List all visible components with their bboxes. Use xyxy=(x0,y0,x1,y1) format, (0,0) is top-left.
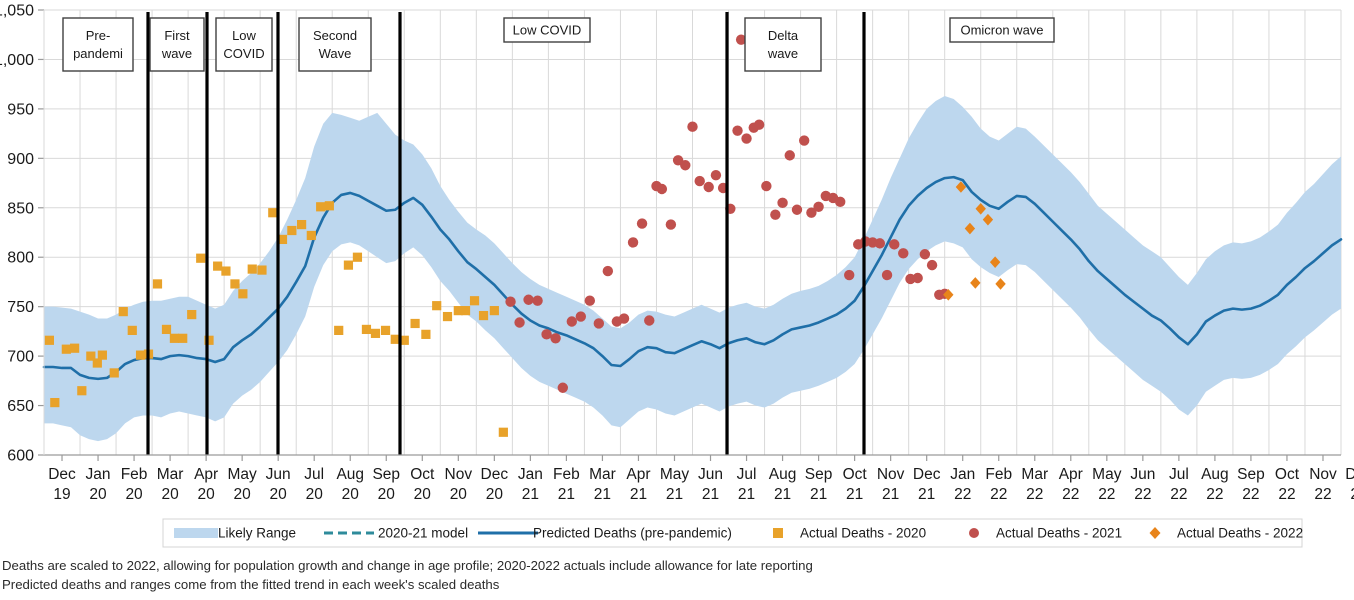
x-axis-tick-month: Mar xyxy=(1021,466,1048,483)
marker-square-2020 xyxy=(297,220,306,229)
x-axis-tick-month: Jun xyxy=(1130,466,1155,483)
legend-item-label: Actual Deaths - 2021 xyxy=(996,526,1122,541)
x-axis-tick-month: Sep xyxy=(805,466,833,483)
annotation-label-line2: wave xyxy=(767,46,798,61)
marker-circle-2021 xyxy=(920,249,930,259)
footnotes: Deaths are scaled to 2022, allowing for … xyxy=(2,558,813,592)
x-axis-tick-year: 21 xyxy=(666,486,683,503)
x-axis-tick-month: Jul xyxy=(1169,466,1189,483)
x-axis-tick-month: Dec xyxy=(481,466,509,483)
annotation-label-line2: COVID xyxy=(223,46,264,61)
marker-circle-2021 xyxy=(732,125,742,135)
x-axis-tick-year: 21 xyxy=(846,486,863,503)
annotation-box[interactable]: LowCOVID xyxy=(216,18,272,71)
annotation-box-rect[interactable] xyxy=(63,18,133,71)
marker-square-2020 xyxy=(287,226,296,235)
marker-circle-2021 xyxy=(835,197,845,207)
marker-square-2020 xyxy=(470,296,479,305)
marker-square-2020 xyxy=(62,345,71,354)
x-axis-tick-year: 21 xyxy=(522,486,539,503)
x-axis-tick-year: 21 xyxy=(882,486,899,503)
x-axis-tick-month: Jul xyxy=(304,466,324,483)
legend-swatch-band xyxy=(174,528,218,538)
marker-square-2020 xyxy=(70,344,79,353)
x-axis-tick-month: Apr xyxy=(1059,466,1083,483)
chart-page: Pre-pandemiFirstwaveLowCOVIDSecondWaveLo… xyxy=(0,0,1354,600)
annotation-box-rect[interactable] xyxy=(745,18,821,71)
marker-circle-2021 xyxy=(666,219,676,229)
x-axis-tick-month: Nov xyxy=(1309,466,1337,483)
marker-square-2020 xyxy=(178,334,187,343)
x-axis-tick-year: 21 xyxy=(702,486,719,503)
marker-circle-2021 xyxy=(695,176,705,186)
legend-swatch-square xyxy=(773,528,783,538)
y-axis-tick-label: 800 xyxy=(7,250,34,267)
x-axis-tick-year: 22 xyxy=(990,486,1007,503)
marker-circle-2021 xyxy=(754,120,764,130)
x-axis-tick-year: 22 xyxy=(1278,486,1295,503)
marker-circle-2021 xyxy=(777,198,787,208)
annotation-label-line2: wave xyxy=(161,46,192,61)
marker-square-2020 xyxy=(461,306,470,315)
annotation-label: Low COVID xyxy=(513,23,582,38)
marker-circle-2021 xyxy=(927,260,937,270)
legend-box xyxy=(163,519,1302,547)
annotation-label-line1: Low xyxy=(232,28,256,43)
x-axis-tick-year: 22 xyxy=(1098,486,1115,503)
x-axis-tick-year: 20 xyxy=(161,486,179,503)
x-axis-tick-year: 21 xyxy=(594,486,611,503)
marker-square-2020 xyxy=(230,279,239,288)
marker-circle-2021 xyxy=(770,210,780,220)
x-axis-tick-month: Aug xyxy=(336,466,364,483)
marker-square-2020 xyxy=(371,329,380,338)
x-axis-tick-month: Feb xyxy=(121,466,148,483)
annotation-box[interactable]: SecondWave xyxy=(299,18,371,71)
marker-square-2020 xyxy=(344,261,353,270)
x-axis-tick-year: 20 xyxy=(342,486,360,503)
marker-circle-2021 xyxy=(882,270,892,280)
legend-item-label: Actual Deaths - 2020 xyxy=(800,526,926,541)
x-axis-tick-month: Nov xyxy=(445,466,473,483)
marker-square-2020 xyxy=(213,262,222,271)
annotation-label-line2: pandemi xyxy=(73,46,123,61)
marker-circle-2021 xyxy=(541,329,551,339)
annotation-label-line2: Wave xyxy=(319,46,352,61)
marker-circle-2021 xyxy=(619,313,629,323)
annotation-box[interactable]: Omicron wave xyxy=(950,18,1054,42)
marker-square-2020 xyxy=(410,319,419,328)
marker-circle-2021 xyxy=(576,311,586,321)
marker-square-2020 xyxy=(196,254,205,263)
marker-circle-2021 xyxy=(792,205,802,215)
x-axis-tick-year: 22 xyxy=(1170,486,1187,503)
marker-square-2020 xyxy=(221,266,230,275)
marker-square-2020 xyxy=(499,428,508,437)
legend-item-label: 2020-21 model xyxy=(378,526,468,541)
x-axis-tick-year: 19 xyxy=(53,486,70,503)
marker-circle-2021 xyxy=(680,160,690,170)
marker-circle-2021 xyxy=(889,239,899,249)
annotation-box-rect[interactable] xyxy=(150,18,204,71)
footnote-line-1: Deaths are scaled to 2022, allowing for … xyxy=(2,558,813,573)
x-axis-tick-month: Dec xyxy=(913,466,941,483)
annotation-box-rect[interactable] xyxy=(299,18,371,71)
x-axis-tick-month: Jan xyxy=(950,466,975,483)
x-axis-tick-year: 22 xyxy=(954,486,971,503)
marker-diamond-2022 xyxy=(970,277,980,289)
x-axis-tick-year: 21 xyxy=(630,486,647,503)
marker-circle-2021 xyxy=(898,248,908,258)
x-axis-tick-year: 20 xyxy=(89,486,107,503)
marker-square-2020 xyxy=(334,326,343,335)
marker-circle-2021 xyxy=(505,297,515,307)
marker-circle-2021 xyxy=(558,383,568,393)
marker-square-2020 xyxy=(248,264,257,273)
x-axis-tick-month: Nov xyxy=(877,466,905,483)
legend: Likely Range2020-21 modelPredicted Death… xyxy=(163,519,1303,547)
x-axis-tick-year: 22 xyxy=(1026,486,1043,503)
x-axis-tick-month: Jan xyxy=(518,466,543,483)
x-axis-tick-year: 22 xyxy=(1242,486,1259,503)
x-axis-tick-year: 20 xyxy=(125,486,143,503)
x-axis-tick-year: 21 xyxy=(738,486,755,503)
marker-square-2020 xyxy=(93,358,102,367)
y-axis-tick-label: 750 xyxy=(7,299,34,316)
marker-square-2020 xyxy=(45,336,54,345)
x-axis-tick-month: May xyxy=(228,466,258,483)
x-axis-tick-year: 20 xyxy=(198,486,216,503)
legend-item-label: Likely Range xyxy=(218,526,296,541)
marker-diamond-2022 xyxy=(995,278,1005,290)
y-axis-tick-label: 850 xyxy=(7,200,34,217)
marker-circle-2021 xyxy=(567,316,577,326)
annotation-label-line1: First xyxy=(164,28,190,43)
x-axis-tick-year: 22 xyxy=(1350,486,1354,503)
x-axis-tick-year: 20 xyxy=(270,486,288,503)
annotation-label-line1: Second xyxy=(313,28,357,43)
x-axis-tick-year: 22 xyxy=(1206,486,1223,503)
x-axis-tick-month: Mar xyxy=(589,466,616,483)
x-axis-tick-month: Jan xyxy=(86,466,111,483)
x-axis-tick-year: 20 xyxy=(378,486,396,503)
marker-square-2020 xyxy=(432,301,441,310)
x-axis-tick-year: 21 xyxy=(558,486,575,503)
marker-circle-2021 xyxy=(628,237,638,247)
marker-circle-2021 xyxy=(532,296,542,306)
annotation-box[interactable]: Firstwave xyxy=(150,18,204,71)
period-annotations: Pre-pandemiFirstwaveLowCOVIDSecondWaveLo… xyxy=(63,18,1054,71)
x-axis-tick-year: 22 xyxy=(1134,486,1151,503)
marker-square-2020 xyxy=(362,325,371,334)
x-axis-tick-month: May xyxy=(660,466,690,483)
marker-circle-2021 xyxy=(761,181,771,191)
marker-circle-2021 xyxy=(741,133,751,143)
x-axis-tick-month: Apr xyxy=(194,466,218,483)
marker-circle-2021 xyxy=(844,270,854,280)
marker-square-2020 xyxy=(119,307,128,316)
marker-square-2020 xyxy=(316,202,325,211)
marker-square-2020 xyxy=(353,253,362,262)
marker-circle-2021 xyxy=(711,170,721,180)
x-axis-tick-month: Mar xyxy=(157,466,184,483)
y-axis-tick-label: 650 xyxy=(7,398,34,415)
legend-item-label: Actual Deaths - 2022 xyxy=(1177,526,1303,541)
x-axis-tick-month: Aug xyxy=(1201,466,1229,483)
x-axis-tick-year: 22 xyxy=(1062,486,1079,503)
marker-circle-2021 xyxy=(687,121,697,131)
marker-square-2020 xyxy=(110,368,119,377)
annotation-box[interactable]: Low COVID xyxy=(504,18,590,42)
x-axis-tick-month: Jul xyxy=(737,466,757,483)
marker-circle-2021 xyxy=(912,273,922,283)
marker-square-2020 xyxy=(50,398,59,407)
marker-square-2020 xyxy=(162,325,171,334)
marker-square-2020 xyxy=(128,326,137,335)
y-axis-tick-label: 950 xyxy=(7,101,34,118)
marker-square-2020 xyxy=(136,351,145,360)
marker-circle-2021 xyxy=(594,318,604,328)
x-axis-tick-month: Jun xyxy=(698,466,723,483)
marker-circle-2021 xyxy=(514,317,524,327)
x-axis-tick-month: Feb xyxy=(553,466,580,483)
x-axis-tick-year: 20 xyxy=(486,486,504,503)
legend-item-label: Predicted Deaths (pre-pandemic) xyxy=(533,526,732,541)
marker-square-2020 xyxy=(187,310,196,319)
marker-square-2020 xyxy=(443,312,452,321)
annotation-label-line1: Pre- xyxy=(86,28,111,43)
marker-circle-2021 xyxy=(603,266,613,276)
excess-deaths-chart: Pre-pandemiFirstwaveLowCOVIDSecondWaveLo… xyxy=(0,0,1354,600)
x-axis-tick-year: 20 xyxy=(306,486,324,503)
x-axis-tick-month: Sep xyxy=(372,466,400,483)
x-axis-tick-month: Aug xyxy=(769,466,797,483)
marker-square-2020 xyxy=(490,306,499,315)
x-axis-tick-month: Oct xyxy=(410,466,435,483)
y-axis-tick-label: 1,050 xyxy=(0,3,34,20)
x-axis-tick-year: 20 xyxy=(234,486,252,503)
marker-circle-2021 xyxy=(785,150,795,160)
x-axis-tick-month: Feb xyxy=(985,466,1012,483)
annotation-box[interactable]: Pre-pandemi xyxy=(63,18,133,71)
marker-circle-2021 xyxy=(704,182,714,192)
x-axis-tick-year: 21 xyxy=(918,486,935,503)
marker-circle-2021 xyxy=(585,296,595,306)
marker-square-2020 xyxy=(77,386,86,395)
x-axis-tick-month: Dec xyxy=(48,466,76,483)
x-axis-tick-month: May xyxy=(1092,466,1122,483)
x-axis-tick-year: 21 xyxy=(810,486,827,503)
marker-square-2020 xyxy=(268,208,277,217)
annotation-label: Omicron wave xyxy=(960,23,1043,38)
annotation-label-line1: Delta xyxy=(768,28,799,43)
marker-square-2020 xyxy=(257,265,266,274)
marker-square-2020 xyxy=(421,330,430,339)
marker-circle-2021 xyxy=(644,315,654,325)
marker-square-2020 xyxy=(381,326,390,335)
y-axis-tick-label: 1,000 xyxy=(0,52,34,69)
x-axis-tick-month: Apr xyxy=(626,466,650,483)
marker-circle-2021 xyxy=(813,202,823,212)
y-axis-tick-label: 600 xyxy=(7,448,34,465)
marker-square-2020 xyxy=(98,351,107,360)
x-axis-tick-month: Dec xyxy=(1345,466,1354,483)
x-axis-tick-year: 21 xyxy=(774,486,791,503)
marker-circle-2021 xyxy=(637,218,647,228)
marker-circle-2021 xyxy=(875,238,885,248)
marker-circle-2021 xyxy=(550,333,560,343)
x-axis-tick-month: Oct xyxy=(1275,466,1300,483)
y-axis-tick-label: 700 xyxy=(7,349,34,366)
marker-circle-2021 xyxy=(657,184,667,194)
marker-square-2020 xyxy=(170,334,179,343)
marker-circle-2021 xyxy=(799,135,809,145)
x-axis-tick-month: Sep xyxy=(1237,466,1265,483)
x-axis-tick-year: 20 xyxy=(450,486,468,503)
marker-square-2020 xyxy=(325,201,334,210)
x-axis-tick-year: 22 xyxy=(1314,486,1331,503)
y-axis-tick-label: 900 xyxy=(7,151,34,168)
x-axis-tick-month: Jun xyxy=(266,466,291,483)
footnote-line-2: Predicted deaths and ranges come from th… xyxy=(2,577,500,592)
marker-square-2020 xyxy=(238,289,247,298)
x-axis-tick-year: 20 xyxy=(414,486,432,503)
marker-square-2020 xyxy=(153,279,162,288)
x-axis-tick-month: Oct xyxy=(843,466,868,483)
marker-square-2020 xyxy=(307,231,316,240)
marker-circle-2021 xyxy=(523,295,533,305)
annotation-box[interactable]: Deltawave xyxy=(745,18,821,71)
annotation-box-rect[interactable] xyxy=(216,18,272,71)
marker-square-2020 xyxy=(479,311,488,320)
legend-swatch-circle xyxy=(969,528,979,538)
